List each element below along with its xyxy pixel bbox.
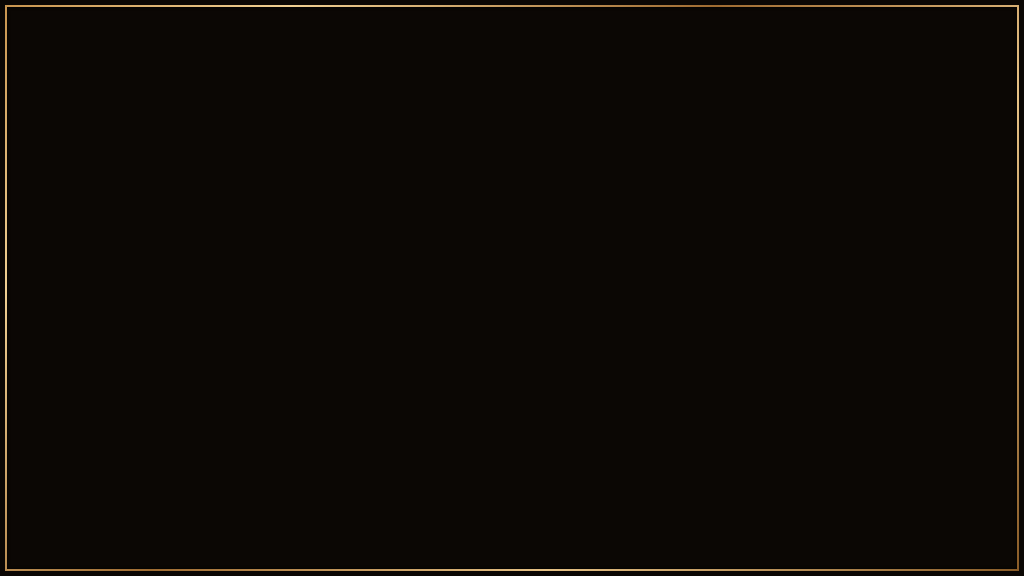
- title-line-2: To Abraham: [0, 169, 1024, 244]
- subtitle: Why the Good News Is Bigger Than We’ve B…: [0, 281, 1024, 307]
- poster-canvas: The Gospel Preached To Abraham Why th: [0, 0, 1024, 576]
- title-block: The Gospel Preached To Abraham Why th: [0, 96, 1024, 307]
- title-line-1: The Gospel Preached: [0, 96, 1024, 171]
- ornamental-divider-icon: [347, 255, 677, 277]
- abraham-figure: [147, 265, 337, 569]
